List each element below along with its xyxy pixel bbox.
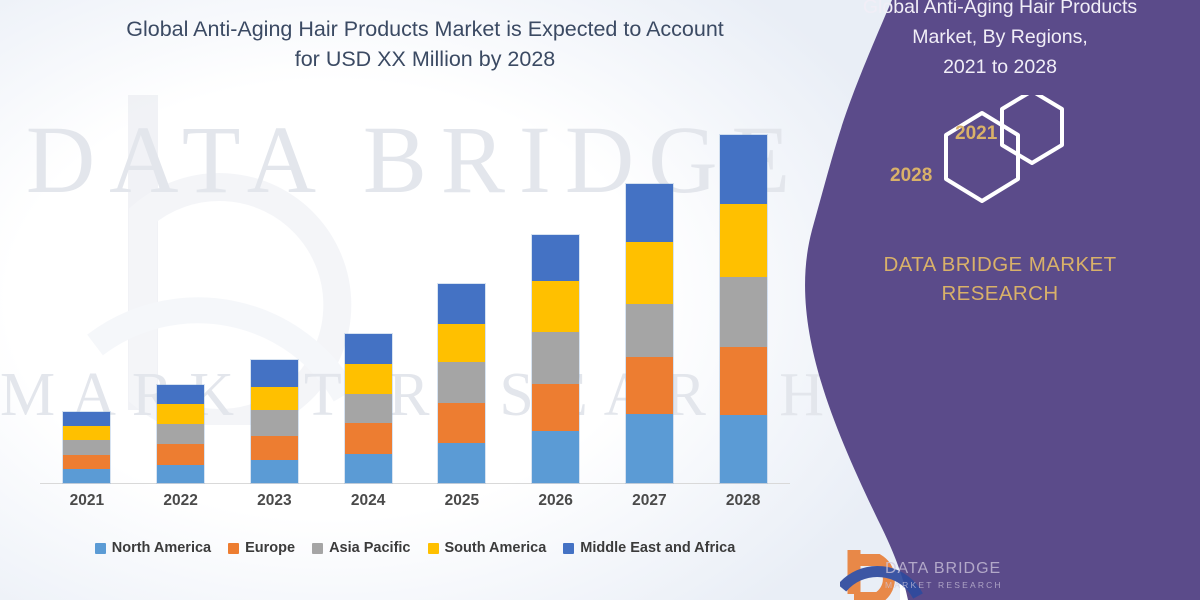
- legend-swatch-icon: [95, 543, 106, 554]
- bar-segment: [720, 415, 767, 483]
- stacked-bar[interactable]: [251, 360, 298, 483]
- bar-slot: [321, 100, 415, 483]
- bar-group: [40, 100, 790, 483]
- legend-label: Europe: [245, 540, 295, 556]
- bar-segment: [532, 235, 579, 281]
- bar-segment: [157, 385, 204, 404]
- bar-segment: [626, 304, 673, 357]
- bar-segment: [63, 469, 110, 483]
- page-title-line-1: Global Anti-Aging Hair Products Market i…: [60, 14, 790, 44]
- bar-slot: [134, 100, 228, 483]
- bar-segment: [251, 436, 298, 460]
- brand-line-1: DATA BRIDGE MARKET: [820, 250, 1180, 279]
- logo-subtext: MARKET RESEARCH: [885, 580, 1003, 590]
- hexagon-group: 2028 2021: [830, 95, 1190, 235]
- stacked-bar[interactable]: [63, 412, 110, 483]
- bar-segment: [720, 347, 767, 415]
- x-axis-labels: 20212022202320242025202620272028: [40, 492, 790, 510]
- legend-item[interactable]: South America: [428, 540, 547, 556]
- page-title: Global Anti-Aging Hair Products Market i…: [60, 14, 790, 74]
- legend-item[interactable]: Europe: [228, 540, 295, 556]
- bar-segment: [251, 360, 298, 387]
- bar-slot: [603, 100, 697, 483]
- x-axis-label: 2027: [603, 492, 697, 510]
- bar-segment: [63, 426, 110, 440]
- bar-segment: [345, 454, 392, 483]
- bar-segment: [63, 440, 110, 455]
- x-axis-label: 2021: [40, 492, 134, 510]
- bar-segment: [157, 424, 204, 444]
- bar-segment: [720, 204, 767, 277]
- bar-segment: [532, 431, 579, 483]
- stacked-bar[interactable]: [438, 284, 485, 483]
- legend-item[interactable]: North America: [95, 540, 211, 556]
- hexagon-outlines-icon: [830, 95, 1190, 235]
- legend-swatch-icon: [312, 543, 323, 554]
- x-axis-label: 2026: [509, 492, 603, 510]
- panel-title-line-1: Global Anti-Aging Hair Products: [820, 0, 1180, 22]
- bar-segment: [438, 284, 485, 324]
- x-axis-label: 2028: [696, 492, 790, 510]
- hexagon-label-left: 2028: [890, 165, 932, 187]
- bar-segment: [720, 277, 767, 347]
- chart-plot-area: [40, 100, 790, 484]
- bar-segment: [438, 443, 485, 483]
- stacked-bar[interactable]: [626, 184, 673, 483]
- page-title-line-2: for USD XX Million by 2028: [60, 44, 790, 74]
- legend-label: North America: [112, 540, 211, 556]
- chart-legend: North AmericaEuropeAsia PacificSouth Ame…: [20, 540, 810, 556]
- right-panel: Global Anti-Aging Hair Products Market, …: [800, 0, 1200, 600]
- legend-swatch-icon: [428, 543, 439, 554]
- stacked-bar[interactable]: [345, 334, 392, 483]
- infographic-canvas: DATA BRIDGE MARKET RESEARCH Global Anti-…: [0, 0, 1200, 600]
- stacked-bar[interactable]: [720, 135, 767, 483]
- bar-segment: [532, 332, 579, 384]
- x-axis-label: 2025: [415, 492, 509, 510]
- panel-title-line-2: Market, By Regions,: [820, 22, 1180, 52]
- bar-segment: [626, 414, 673, 483]
- legend-swatch-icon: [228, 543, 239, 554]
- bar-segment: [438, 362, 485, 403]
- bar-slot: [509, 100, 603, 483]
- x-axis-label: 2023: [228, 492, 322, 510]
- bar-segment: [438, 403, 485, 443]
- bar-segment: [251, 410, 298, 436]
- legend-label: South America: [445, 540, 547, 556]
- stacked-bar[interactable]: [532, 235, 579, 483]
- bar-segment: [345, 423, 392, 454]
- bar-slot: [228, 100, 322, 483]
- bar-slot: [40, 100, 134, 483]
- bar-segment: [345, 334, 392, 364]
- bar-segment: [438, 324, 485, 362]
- bar-segment: [251, 460, 298, 483]
- legend-item[interactable]: Asia Pacific: [312, 540, 410, 556]
- bar-segment: [626, 357, 673, 414]
- bar-segment: [251, 387, 298, 410]
- brand-name: DATA BRIDGE MARKET RESEARCH: [820, 250, 1180, 308]
- bar-slot: [415, 100, 509, 483]
- x-axis-line: [40, 483, 790, 484]
- panel-title: Global Anti-Aging Hair Products Market, …: [820, 0, 1180, 82]
- panel-title-line-3: 2021 to 2028: [820, 52, 1180, 82]
- bar-segment: [626, 242, 673, 304]
- bar-segment: [532, 281, 579, 332]
- bar-segment: [157, 465, 204, 483]
- bar-segment: [63, 455, 110, 469]
- x-axis-label: 2022: [134, 492, 228, 510]
- legend-item[interactable]: Middle East and Africa: [563, 540, 735, 556]
- brand-line-2: RESEARCH: [820, 279, 1180, 308]
- bar-segment: [720, 135, 767, 204]
- bar-segment: [157, 444, 204, 465]
- legend-label: Middle East and Africa: [580, 540, 735, 556]
- bar-segment: [532, 384, 579, 431]
- legend-swatch-icon: [563, 543, 574, 554]
- hexagon-label-right: 2021: [955, 123, 997, 145]
- x-axis-label: 2024: [321, 492, 415, 510]
- bar-slot: [696, 100, 790, 483]
- bar-segment: [626, 184, 673, 242]
- stacked-bar[interactable]: [157, 385, 204, 483]
- bar-segment: [157, 404, 204, 424]
- logo-wordmark: DATA BRIDGE: [885, 560, 1001, 578]
- bar-segment: [345, 394, 392, 423]
- bar-segment: [345, 364, 392, 394]
- bar-segment: [63, 412, 110, 426]
- legend-label: Asia Pacific: [329, 540, 410, 556]
